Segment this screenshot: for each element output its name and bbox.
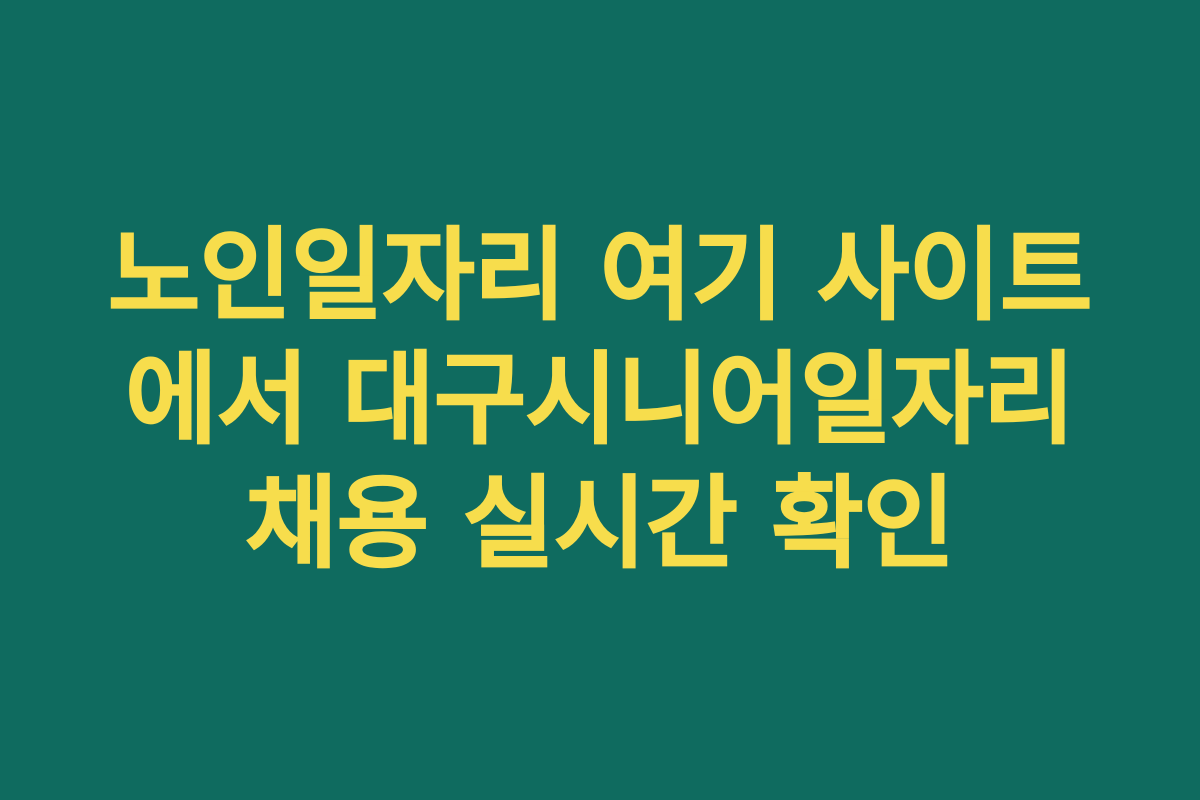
banner-canvas: 노인일자리 여기 사이트 에서 대구시니어일자리 채용 실시간 확인 xyxy=(0,0,1200,800)
headline-text-block: 노인일자리 여기 사이트 에서 대구시니어일자리 채용 실시간 확인 xyxy=(70,214,1130,586)
headline-line-1: 노인일자리 여기 사이트 xyxy=(70,214,1130,338)
headline-line-3: 채용 실시간 확인 xyxy=(70,462,1130,586)
headline-line-2: 에서 대구시니어일자리 xyxy=(70,338,1130,462)
